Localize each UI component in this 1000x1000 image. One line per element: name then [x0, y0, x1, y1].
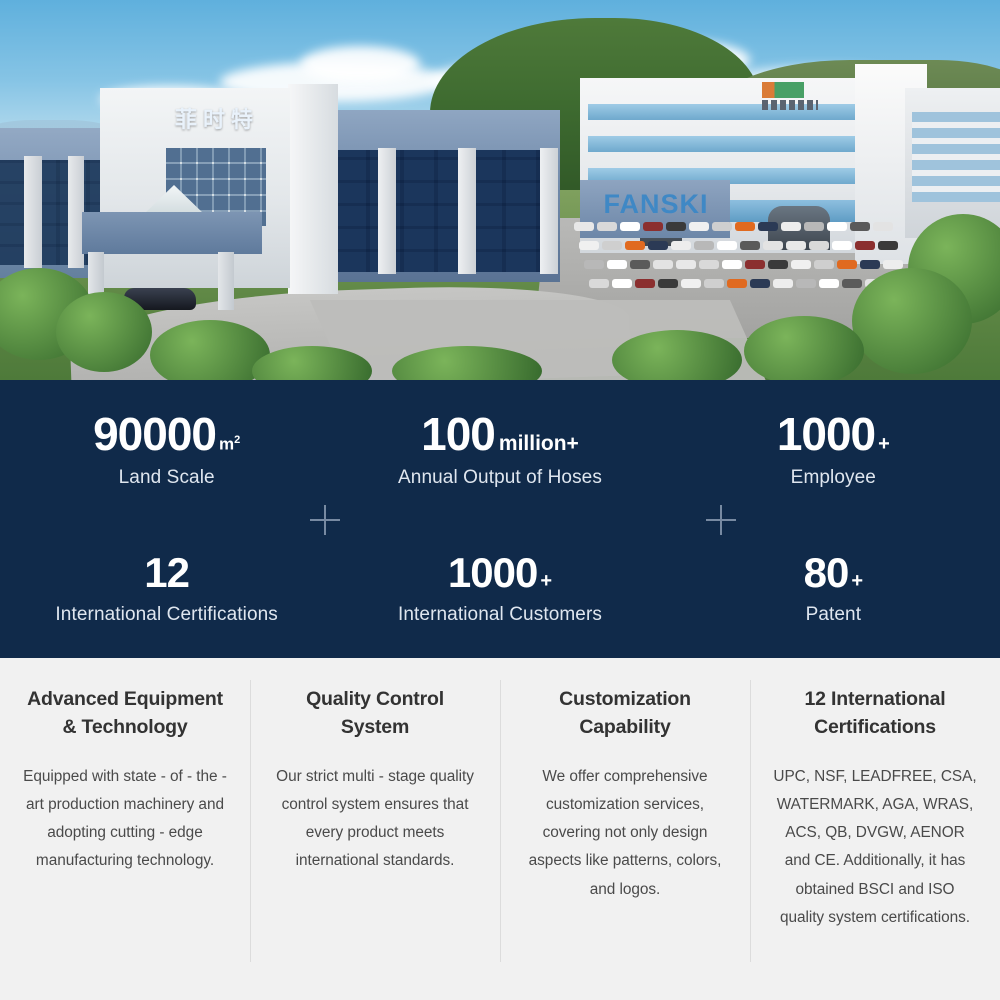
- car-shape: [643, 222, 663, 231]
- cloud-shape: [300, 46, 420, 82]
- car-shape: [837, 260, 857, 269]
- entrance-canopy: [82, 212, 262, 254]
- stats-grid: 90000m2Land Scale100million+Annual Outpu…: [0, 380, 1000, 658]
- car-shape: [676, 260, 696, 269]
- car-shape: [773, 279, 793, 288]
- canopy-column: [218, 252, 234, 310]
- company-logo-mark: [762, 82, 804, 98]
- car-shape: [850, 222, 870, 231]
- stat-number: 90000: [93, 411, 216, 457]
- car-shape: [763, 241, 783, 250]
- car-shape: [671, 241, 691, 250]
- stat-item: 1000+International Customers: [333, 552, 666, 626]
- feature-body: We offer comprehensive customization ser…: [522, 763, 728, 903]
- feature-title: Customization Capability: [522, 686, 728, 741]
- car-shape: [597, 222, 617, 231]
- car-shape: [796, 279, 816, 288]
- car-shape: [804, 222, 824, 231]
- car-shape: [630, 260, 650, 269]
- car-shape: [704, 279, 724, 288]
- car-shape: [612, 279, 632, 288]
- car-shape: [666, 222, 686, 231]
- stat-value: 12: [10, 552, 323, 594]
- car-shape: [689, 222, 709, 231]
- feature-body: Equipped with state - of - the - art pro…: [22, 763, 228, 875]
- tree-shape: [744, 316, 864, 380]
- tree-shape: [56, 292, 152, 372]
- feature-card: Advanced Equipment & TechnologyEquipped …: [0, 658, 250, 1000]
- stat-value: 90000m2: [10, 411, 323, 457]
- chinese-company-sign: 菲时特: [152, 108, 282, 134]
- car-shape: [584, 260, 604, 269]
- stat-item: 100million+Annual Output of Hoses: [333, 411, 666, 489]
- feature-title: 12 International Certifications: [772, 686, 978, 741]
- stat-unit: million+: [499, 433, 579, 454]
- feature-cards-row: Advanced Equipment & TechnologyEquipped …: [0, 658, 1000, 1000]
- car-shape: [699, 260, 719, 269]
- car-shape: [750, 279, 770, 288]
- car-shape: [712, 222, 732, 231]
- car-shape: [878, 241, 898, 250]
- stat-unit: m2: [219, 435, 240, 453]
- car-shape: [735, 222, 755, 231]
- hero-factory-image: FANSKI 菲时特: [0, 0, 1000, 380]
- feature-title: Quality Control System: [272, 686, 478, 741]
- car-shape: [625, 241, 645, 250]
- curtain-wall-glass: [336, 150, 554, 272]
- fanski-sign-text: FANSKI: [586, 188, 726, 220]
- stat-label: Employee: [677, 467, 990, 489]
- car-shape: [653, 260, 673, 269]
- car-shape: [860, 260, 880, 269]
- car-shape: [842, 279, 862, 288]
- stat-item: 12International Certifications: [0, 552, 333, 626]
- stat-number: 100: [421, 411, 495, 457]
- car-shape: [635, 279, 655, 288]
- stat-value: 80+: [677, 552, 990, 594]
- car-shape: [620, 222, 640, 231]
- car-shape: [681, 279, 701, 288]
- stat-item: 1000+Employee: [667, 411, 1000, 489]
- stat-unit-text: m: [219, 435, 234, 454]
- car-shape: [694, 241, 714, 250]
- car-shape: [873, 222, 893, 231]
- stat-label: International Customers: [343, 604, 656, 626]
- car-shape: [855, 241, 875, 250]
- window-band: [588, 136, 858, 152]
- car-shape: [768, 260, 788, 269]
- company-logo-chinese-text: [762, 100, 818, 110]
- building-corner-panel: [288, 84, 338, 294]
- stat-number: 1000: [448, 552, 537, 594]
- car-shape: [717, 241, 737, 250]
- car-shape: [809, 241, 829, 250]
- car-shape: [658, 279, 678, 288]
- car-shape: [758, 222, 778, 231]
- stat-label: Land Scale: [10, 467, 323, 489]
- feature-card: 12 International CertificationsUPC, NSF,…: [750, 658, 1000, 1000]
- feature-title: Advanced Equipment & Technology: [22, 686, 228, 741]
- car-shape: [832, 241, 852, 250]
- stat-value: 1000+: [677, 411, 990, 457]
- car-shape: [883, 260, 903, 269]
- car-shape: [579, 241, 599, 250]
- car-shape: [745, 260, 765, 269]
- facade-pillar: [378, 148, 396, 274]
- stat-number: 80: [804, 552, 849, 594]
- company-stats-band: 90000m2Land Scale100million+Annual Outpu…: [0, 380, 1000, 658]
- car-shape: [602, 241, 622, 250]
- stat-number: 12: [144, 552, 189, 594]
- stat-value: 1000+: [343, 552, 656, 594]
- stat-unit: +: [878, 434, 890, 454]
- stat-value: 100million+: [343, 411, 656, 457]
- stat-unit: +: [540, 571, 552, 591]
- parked-cars: [566, 218, 916, 294]
- car-shape: [827, 222, 847, 231]
- car-shape: [589, 279, 609, 288]
- car-shape: [740, 241, 760, 250]
- car-shape: [727, 279, 747, 288]
- car-shape: [722, 260, 742, 269]
- facade-pillar: [540, 148, 558, 274]
- stat-unit-superscript: 2: [234, 434, 240, 446]
- feature-card: Quality Control SystemOur strict multi -…: [250, 658, 500, 1000]
- car-shape: [781, 222, 801, 231]
- stat-item: 80+Patent: [667, 552, 1000, 626]
- stat-label: International Certifications: [10, 604, 323, 626]
- stat-number: 1000: [777, 411, 875, 457]
- stat-item: 90000m2Land Scale: [0, 411, 333, 489]
- feature-body: UPC, NSF, LEADFREE, CSA, WATERMARK, AGA,…: [772, 763, 978, 931]
- tree-shape: [852, 268, 972, 374]
- facade-pillar: [458, 148, 476, 274]
- car-shape: [648, 241, 668, 250]
- feature-body: Our strict multi - stage quality control…: [272, 763, 478, 875]
- stat-label: Patent: [677, 604, 990, 626]
- car-shape: [791, 260, 811, 269]
- car-shape: [819, 279, 839, 288]
- background-building-windows: [912, 112, 1000, 202]
- feature-card: Customization CapabilityWe offer compreh…: [500, 658, 750, 1000]
- car-shape: [574, 222, 594, 231]
- car-shape: [786, 241, 806, 250]
- stat-unit: +: [851, 571, 863, 591]
- car-shape: [607, 260, 627, 269]
- stat-label: Annual Output of Hoses: [343, 467, 656, 489]
- car-shape: [814, 260, 834, 269]
- facade-pillar: [24, 156, 42, 268]
